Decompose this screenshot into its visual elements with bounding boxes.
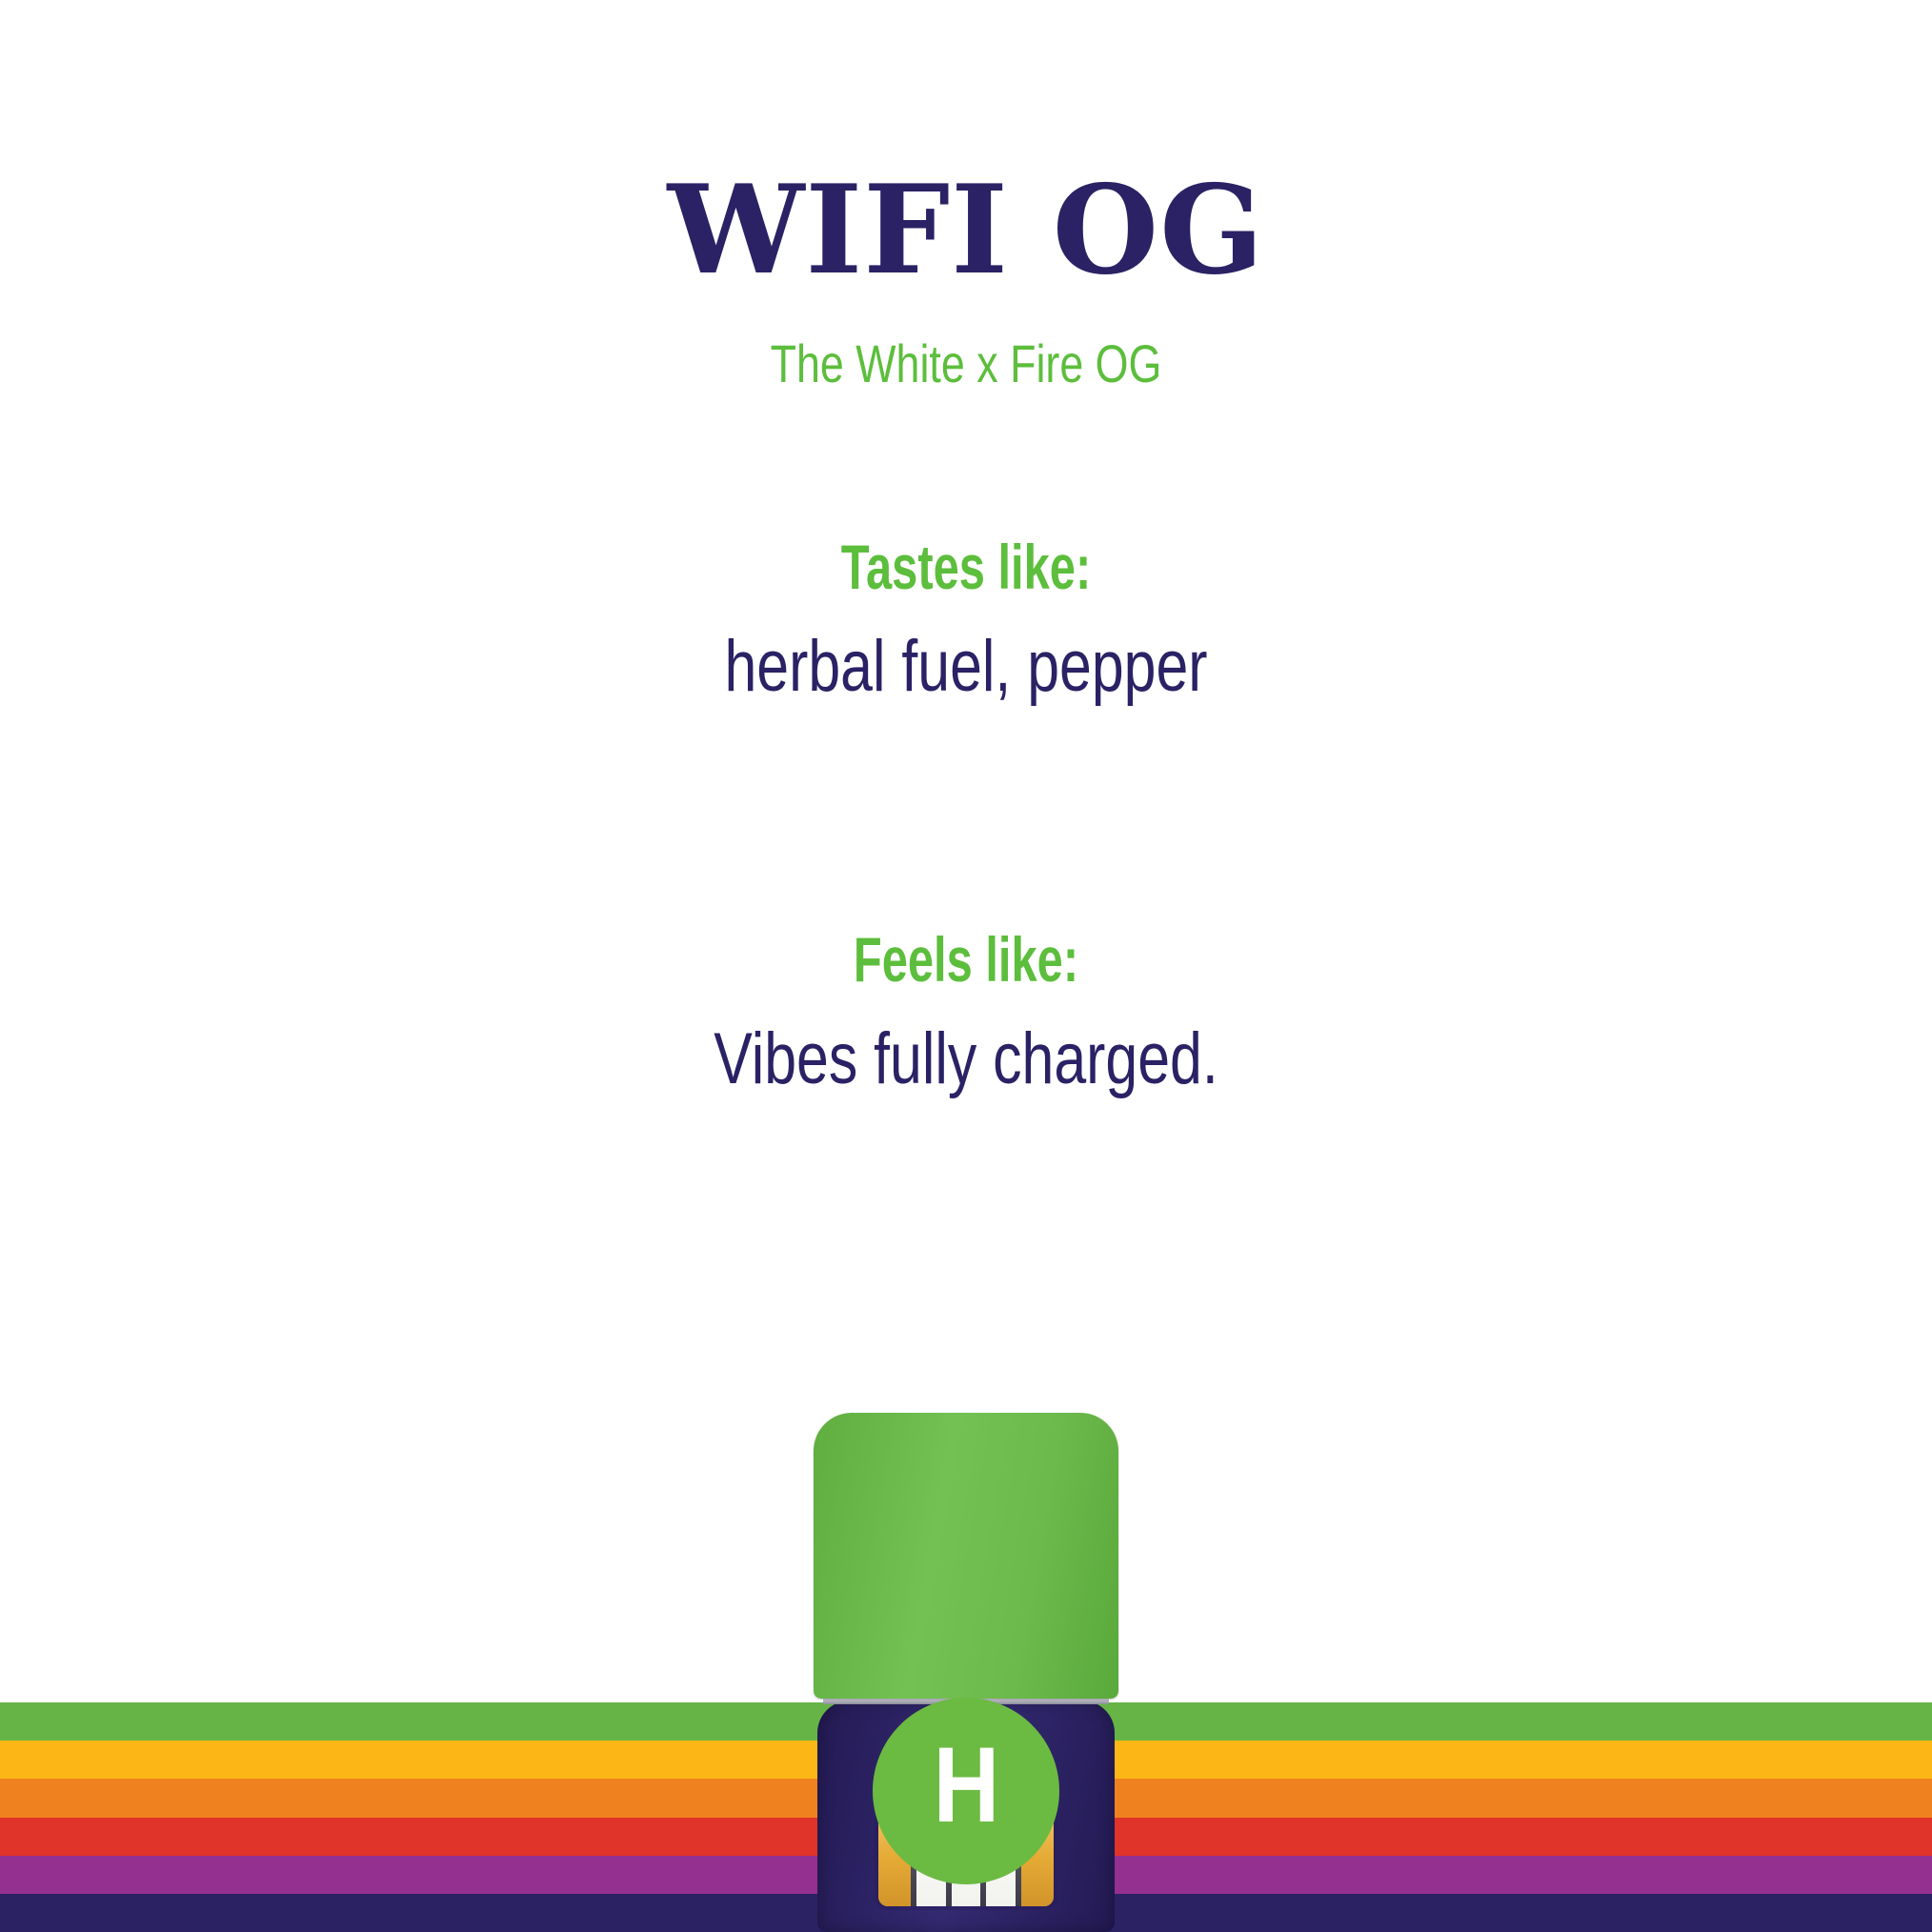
- attribute-label-feels-like: Feels like:: [252, 928, 1681, 991]
- attribute-value-tastes-like: herbal fuel, pepper: [193, 631, 1739, 703]
- attribute-value-feels-like: Vibes fully charged.: [193, 1023, 1739, 1096]
- hybrid-badge: H: [873, 1698, 1059, 1884]
- hybrid-badge-letter: H: [933, 1732, 999, 1839]
- device-pod-cartridge: [814, 1413, 1118, 1699]
- attribute-feels-like: Feels like: Vibes fully charged.: [0, 928, 1932, 1096]
- attribute-tastes-like: Tastes like: herbal fuel, pepper: [0, 535, 1932, 703]
- product-info: WIFI OG The White x Fire OG Tastes like:…: [0, 0, 1932, 1096]
- product-subtitle: The White x Fire OG: [193, 337, 1739, 391]
- page-title: WIFI OG: [0, 170, 1932, 292]
- attribute-label-tastes-like: Tastes like:: [252, 535, 1681, 598]
- vape-device-image: 0 H: [814, 1413, 1118, 1932]
- product-card: WIFI OG The White x Fire OG Tastes like:…: [0, 0, 1932, 1932]
